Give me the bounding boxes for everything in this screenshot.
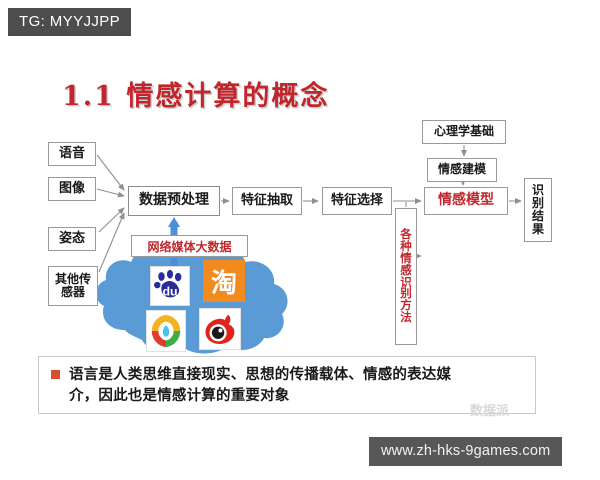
baidu-logo[interactable]: du xyxy=(150,266,190,306)
input-box-image[interactable]: 图像 xyxy=(48,177,96,201)
input-box-voice-label: 语音 xyxy=(59,147,85,162)
process-box-preprocess[interactable]: 数据预处理 xyxy=(128,186,220,216)
other-sensor-line1: 其他传 xyxy=(55,273,91,286)
feature-extract-label: 特征抽取 xyxy=(241,194,293,209)
process-box-feature-select[interactable]: 特征选择 xyxy=(322,187,392,215)
input-box-pose-label: 姿态 xyxy=(59,232,85,247)
svg-text:淘: 淘 xyxy=(211,269,237,299)
statement-line-1: 语言是人类思维直接现实、思想的传播载体、情感的表达媒 xyxy=(69,365,451,386)
process-box-emotion-recognition-methods[interactable]: 各 种 情 感 识 别 方 法 xyxy=(395,208,417,345)
feature-select-label: 特征选择 xyxy=(331,194,383,209)
statement-line-2: 介，因此也是情感计算的重要对象 xyxy=(69,386,451,407)
svg-text:du: du xyxy=(162,285,177,299)
process-box-feature-extract[interactable]: 特征抽取 xyxy=(232,187,302,215)
other-sensor-line2: 感器 xyxy=(61,286,85,299)
big-data-label-text: 网络媒体大数据 xyxy=(147,238,231,255)
statement-text: 语言是人类思维直接现实、思想的传播载体、情感的表达媒 介，因此也是情感计算的重要… xyxy=(69,365,451,407)
result-char-3: 结 xyxy=(532,210,544,223)
taobao-logo[interactable]: 淘 xyxy=(203,260,245,302)
faint-brand-watermark: 数据派 xyxy=(470,400,509,419)
input-box-voice[interactable]: 语音 xyxy=(48,142,96,166)
taobao-icon: 淘 xyxy=(203,260,245,302)
weibo-logo[interactable] xyxy=(199,308,241,350)
weibo-eye-icon xyxy=(200,309,240,349)
qihoo360-logo[interactable] xyxy=(146,310,186,352)
arrow-image-to-preprocess xyxy=(97,189,124,196)
qihoo360-circle-icon xyxy=(147,311,185,351)
label-web-media-big-data[interactable]: 网络媒体大数据 xyxy=(131,235,248,257)
emotion-model-label: 情感模型 xyxy=(438,193,494,209)
arrow-voice-to-preprocess xyxy=(97,155,124,190)
methods-char-8: 法 xyxy=(400,312,412,324)
preprocess-label: 数据预处理 xyxy=(139,193,209,209)
url-watermark-overlay: www.zh-hks-9games.com xyxy=(369,437,562,466)
emotion-modeling-label: 情感建模 xyxy=(438,163,486,176)
input-box-image-label: 图像 xyxy=(59,182,85,197)
process-box-psychology-base[interactable]: 心理学基础 xyxy=(422,120,506,144)
slide-canvas: 语音 图像 姿态 其他传 感器 数据预处理 特征抽取 特征选择 心理学基础 情感… xyxy=(0,0,600,480)
arrow-pose-to-preprocess xyxy=(99,208,124,232)
psychology-base-label: 心理学基础 xyxy=(434,125,494,138)
input-box-other-sensor[interactable]: 其他传 感器 xyxy=(48,266,98,306)
process-box-emotion-modeling[interactable]: 情感建模 xyxy=(427,158,497,182)
statement-bullet-icon xyxy=(51,370,60,379)
baidu-paw-icon: du xyxy=(151,267,189,305)
process-box-recognition-result[interactable]: 识 别 结 果 xyxy=(524,178,552,242)
result-char-4: 果 xyxy=(532,223,544,236)
input-box-pose[interactable]: 姿态 xyxy=(48,227,96,251)
process-box-emotion-model[interactable]: 情感模型 xyxy=(424,187,508,215)
statement-box: 语言是人类思维直接现实、思想的传播载体、情感的表达媒 介，因此也是情感计算的重要… xyxy=(38,356,536,414)
arrow-other-to-preprocess xyxy=(99,213,124,272)
